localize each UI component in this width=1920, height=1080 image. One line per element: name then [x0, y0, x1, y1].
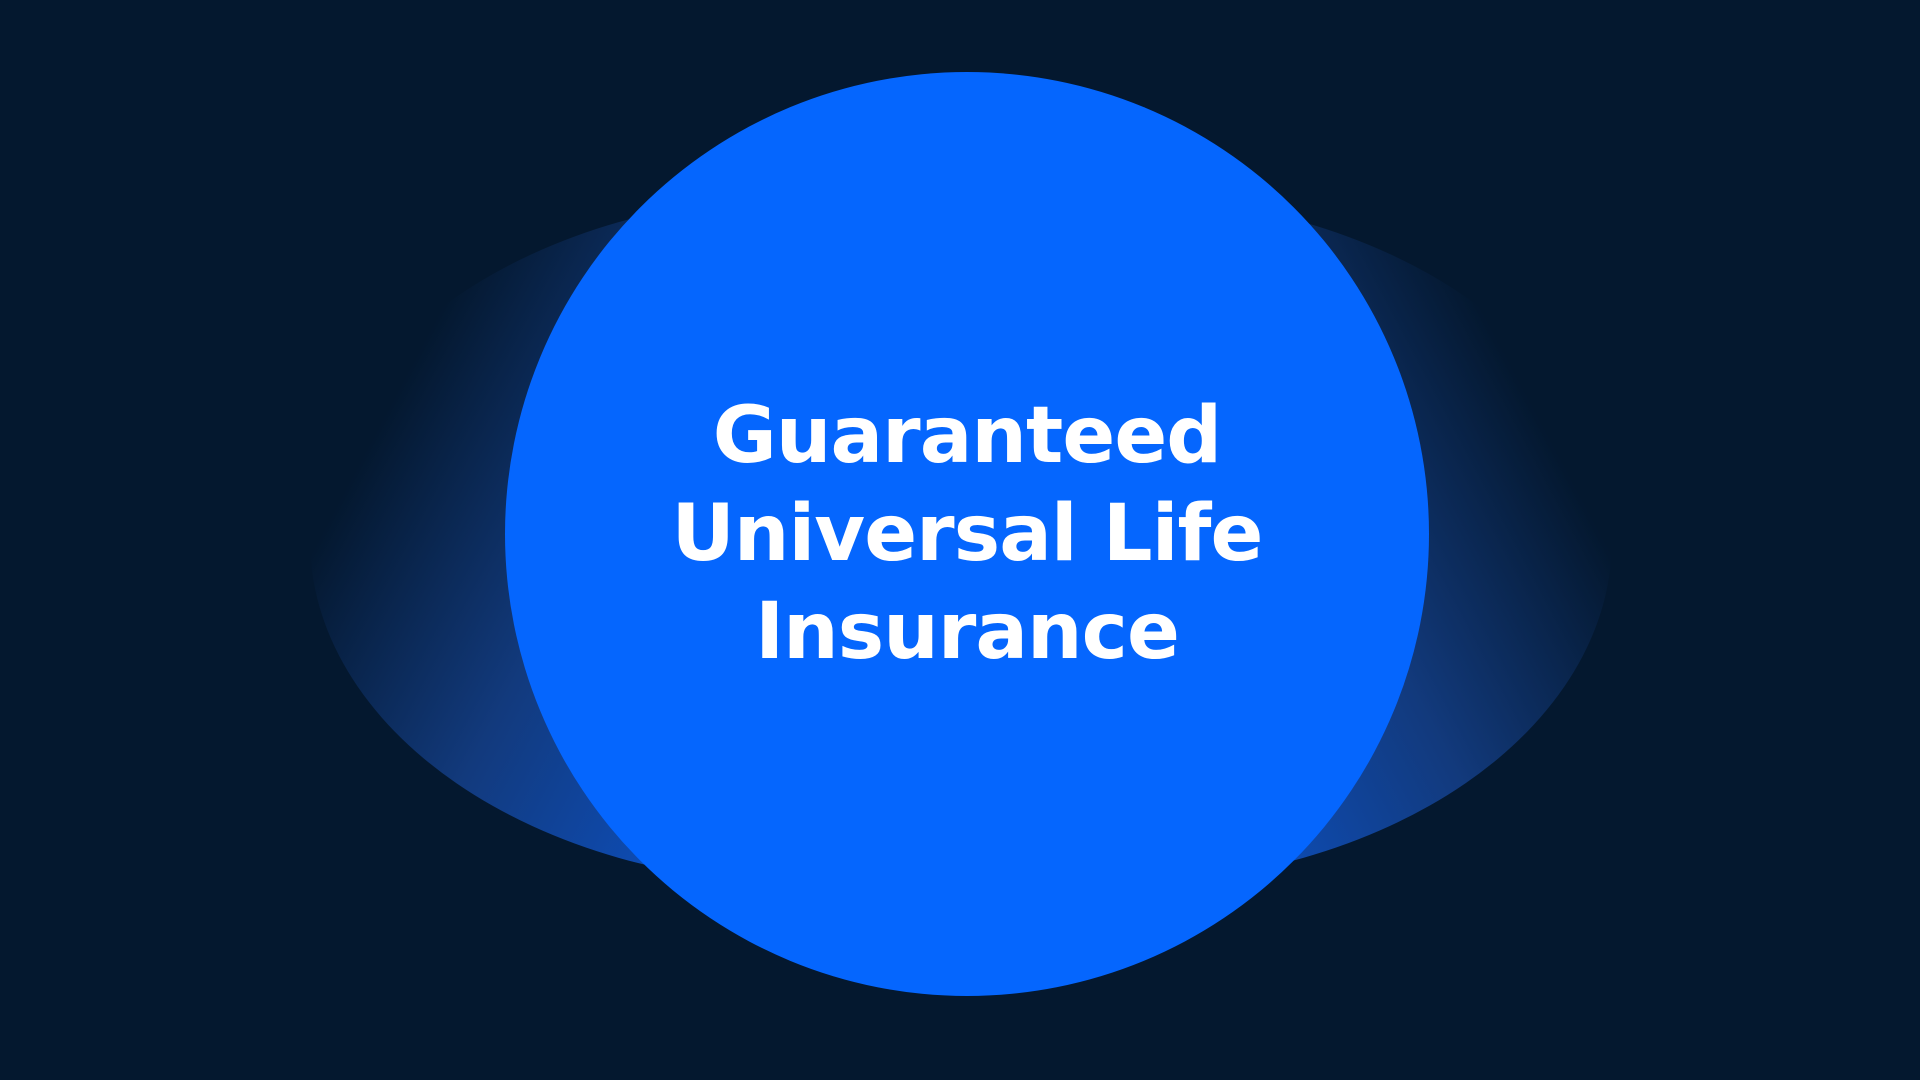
slide-canvas: Guaranteed Universal Life Insurance	[0, 0, 1920, 1080]
page-title: Guaranteed Universal Life Insurance	[505, 72, 1429, 996]
page-title-line-2: Universal Life	[672, 485, 1263, 583]
page-title-line-1: Guaranteed	[713, 387, 1221, 485]
page-title-line-3: Insurance	[755, 583, 1179, 681]
